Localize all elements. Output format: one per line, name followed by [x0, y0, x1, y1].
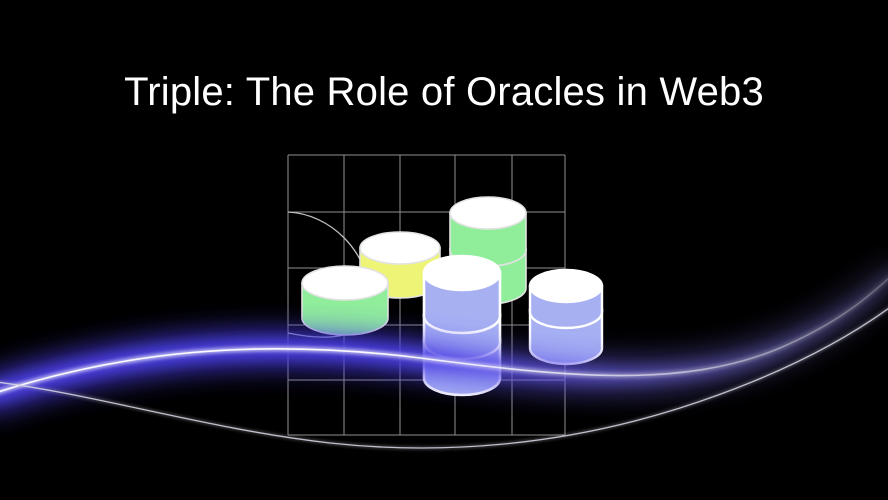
slide-canvas: Triple: The Role of Oracles in Web3 — [0, 0, 888, 500]
db-stack-right-blue — [530, 270, 602, 364]
db-stack-center-blue — [424, 256, 500, 395]
page-title: Triple: The Role of Oracles in Web3 — [0, 68, 888, 116]
db-stack-left-green — [302, 266, 388, 335]
